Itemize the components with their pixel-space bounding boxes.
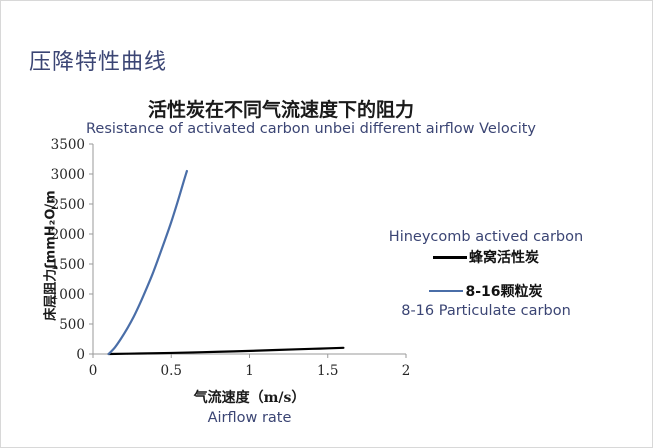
chart-series-lines	[109, 171, 344, 354]
chart-axes	[89, 144, 406, 358]
x-axis-tick-labels: 00.511.52	[89, 363, 411, 379]
chart-svg: 0500100015002000250030003500 00.511.52	[1, 1, 653, 448]
x-tick-label: 1.5	[317, 363, 338, 379]
x-tick-label: 1	[245, 363, 254, 379]
x-tick-label: 0	[89, 363, 98, 379]
x-tick-label: 0.5	[161, 363, 182, 379]
x-axis-title: 气流速度（m/s）	[93, 387, 406, 407]
legend-line-swatch-blue	[429, 290, 463, 292]
legend-item-honeycomb: 蜂窝活性炭	[371, 247, 601, 267]
y-axis-title: 床层阻力ʃmmH₂O/m	[40, 176, 59, 336]
legend-label-particulate-english: 8-16 Particulate carbon	[371, 303, 601, 319]
chart-legend: Hineycomb actived carbon 蜂窝活性炭 8-16颗粒炭 8…	[371, 229, 601, 319]
y-tick-label: 0	[76, 347, 85, 363]
legend-label-particulate-chinese: 8-16颗粒炭	[465, 281, 542, 301]
slide-canvas: 压降特性曲线 活性炭在不同气流速度下的阻力 Resistance of acti…	[0, 0, 653, 448]
y-tick-label: 3500	[51, 137, 85, 153]
legend-label-honeycomb-english: Hineycomb actived carbon	[371, 229, 601, 245]
series-line-particulate	[109, 171, 187, 354]
x-tick-label: 2	[402, 363, 411, 379]
series-line-honeycomb	[109, 348, 344, 354]
y-tick-label: 500	[59, 317, 85, 333]
legend-label-honeycomb-chinese: 蜂窝活性炭	[469, 247, 539, 267]
chart-plot-area: 0500100015002000250030003500 00.511.52	[1, 1, 653, 448]
legend-spacer	[371, 269, 601, 279]
legend-item-particulate: 8-16颗粒炭	[371, 281, 601, 301]
legend-line-swatch-black	[433, 256, 467, 259]
x-axis-subtitle: Airflow rate	[93, 410, 406, 426]
